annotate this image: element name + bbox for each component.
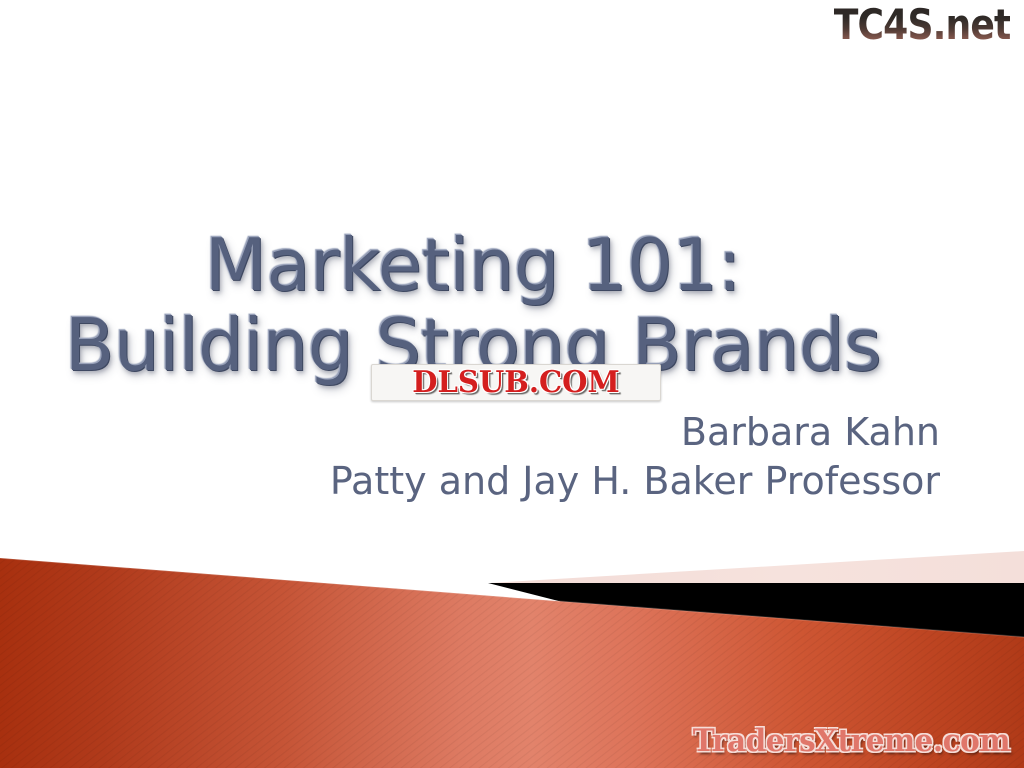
- watermark-top-right: TC4S.net: [833, 2, 1010, 48]
- watermark-center-text: DLSUB.COM: [412, 368, 620, 398]
- watermark-center-badge: DLSUB.COM: [371, 364, 661, 401]
- subtitle-author-name: Barbara Kahn: [330, 408, 940, 457]
- pink-wedge: [490, 551, 1024, 583]
- slide-subtitle: Barbara Kahn Patty and Jay H. Baker Prof…: [330, 408, 940, 506]
- subtitle-author-title: Patty and Jay H. Baker Professor: [330, 457, 940, 506]
- watermark-bottom-right: TradersXtreme.com: [693, 722, 1010, 760]
- title-line-1: Marketing 101:: [0, 222, 946, 308]
- presentation-slide: Marketing 101: Building Strong Brands Ba…: [0, 0, 1024, 768]
